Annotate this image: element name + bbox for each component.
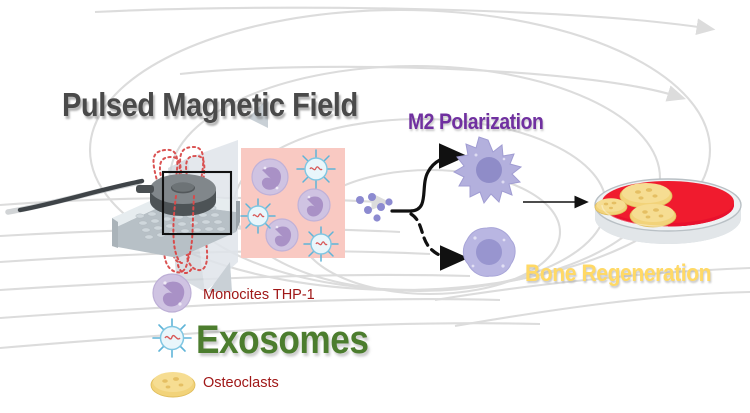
legend-label-exosomes: Exosomes — [196, 318, 369, 363]
page-title: Pulsed Magnetic Field — [62, 86, 358, 124]
legend-label-monocites-thp1: Monocites THP-1 — [203, 287, 315, 303]
label-bone-regeneration: Bone Regeneration — [525, 260, 711, 288]
exosome-particle-icon — [153, 319, 191, 357]
label-m2-polarization: M2 Polarization — [408, 109, 543, 135]
graphical-abstract-figure: Pulsed Magnetic Field M2 Polarization Bo… — [0, 0, 750, 413]
legend-icons — [0, 0, 750, 413]
osteoclast-cell-icon — [151, 372, 195, 397]
monocyte-cell-icon — [153, 274, 191, 312]
legend-label-osteoclasts: Osteoclasts — [203, 375, 279, 391]
